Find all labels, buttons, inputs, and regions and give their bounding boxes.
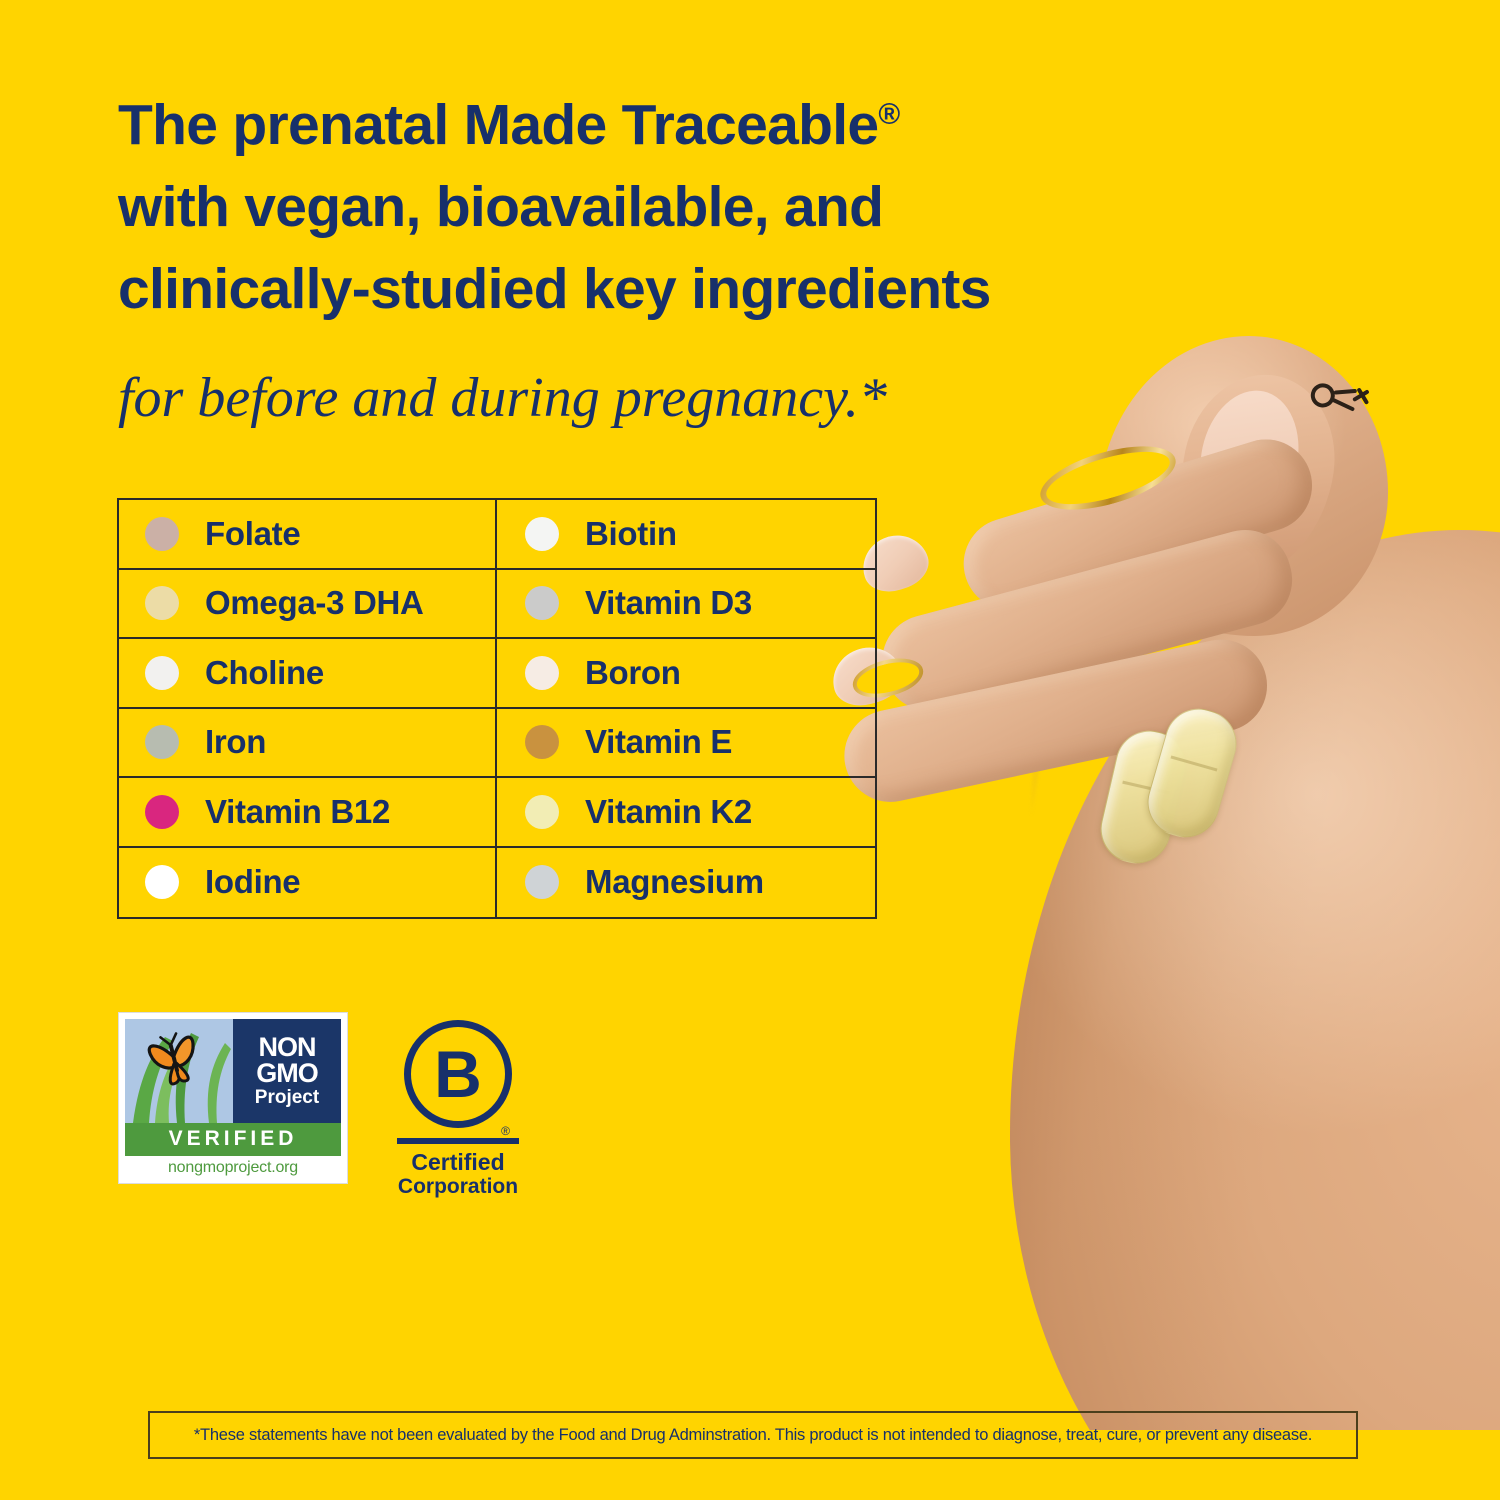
hand-tattoo-icon bbox=[1300, 370, 1383, 433]
non-gmo-url: nongmoproject.org bbox=[125, 1156, 341, 1177]
ingredient-color-dot bbox=[145, 656, 179, 690]
ingredient-label: Folate bbox=[205, 515, 300, 553]
ingredient-row: Boron bbox=[497, 639, 875, 709]
ingredient-label: Iron bbox=[205, 723, 266, 761]
ingredient-row: Choline bbox=[119, 639, 497, 709]
capsule-front-seam bbox=[1122, 781, 1169, 795]
ingredient-row: Magnesium bbox=[497, 848, 875, 918]
ingredient-color-dot bbox=[525, 656, 559, 690]
ingredient-label: Vitamin D3 bbox=[585, 584, 752, 622]
non-gmo-word-gmo: GMO bbox=[256, 1061, 318, 1087]
butterfly-icon bbox=[125, 1019, 233, 1123]
ingredient-label: Magnesium bbox=[585, 863, 764, 901]
ingredient-color-dot bbox=[525, 725, 559, 759]
ingredient-color-dot bbox=[525, 586, 559, 620]
ingredient-label: Vitamin E bbox=[585, 723, 732, 761]
product-marketing-image: The prenatal Made Traceable® with vegan,… bbox=[0, 0, 1500, 1500]
ingredient-color-dot bbox=[525, 865, 559, 899]
ingredient-label: Biotin bbox=[585, 515, 677, 553]
thumb-nail bbox=[1190, 381, 1311, 528]
ingredient-color-dot bbox=[145, 586, 179, 620]
b-corp-label-corporation: Corporation bbox=[388, 1175, 528, 1198]
thumb bbox=[1163, 361, 1351, 588]
navel bbox=[1048, 676, 1093, 754]
ingredient-row: Folate bbox=[119, 500, 497, 570]
page-title: The prenatal Made Traceable® with vegan,… bbox=[118, 84, 1198, 330]
ingredient-row: Vitamin D3 bbox=[497, 570, 875, 640]
headline-line-1-text: The prenatal Made Traceable bbox=[118, 93, 878, 157]
belly-shading bbox=[1010, 530, 1500, 1430]
subheadline: for before and during pregnancy.* bbox=[118, 366, 887, 430]
ingredient-color-dot bbox=[525, 795, 559, 829]
fda-disclaimer-box: *These statements have not been evaluate… bbox=[148, 1411, 1358, 1459]
headline-line-3: clinically-studied key ingredients bbox=[118, 248, 1198, 330]
ingredient-row: Biotin bbox=[497, 500, 875, 570]
ingredient-label: Iodine bbox=[205, 863, 300, 901]
ingredient-color-dot bbox=[145, 725, 179, 759]
capsule-back-seam bbox=[1171, 755, 1218, 771]
ingredient-row: Iron bbox=[119, 709, 497, 779]
registered-mark-icon: ® bbox=[878, 98, 899, 131]
knuckles bbox=[1098, 336, 1388, 636]
hand bbox=[830, 330, 1450, 950]
headline-line-1: The prenatal Made Traceable® bbox=[118, 84, 1198, 166]
capsule-front bbox=[1094, 724, 1192, 870]
headline-line-2: with vegan, bioavailable, and bbox=[118, 166, 1198, 248]
ingredient-row: Vitamin K2 bbox=[497, 778, 875, 848]
fda-disclaimer-text: *These statements have not been evaluate… bbox=[194, 1426, 1312, 1445]
b-corp-label-certified: Certified bbox=[388, 1150, 528, 1175]
ingredient-label: Omega-3 DHA bbox=[205, 584, 424, 622]
ingredient-label: Choline bbox=[205, 654, 324, 692]
butterfly-grass-artwork bbox=[125, 1019, 233, 1123]
non-gmo-badge-top: NON GMO Project bbox=[125, 1019, 341, 1123]
non-gmo-word-project: Project bbox=[255, 1089, 319, 1107]
b-corp-certified-badge: B ® Certified Corporation bbox=[388, 1020, 528, 1198]
b-corp-registered-mark-icon: ® bbox=[501, 1124, 510, 1138]
ingredient-row: Vitamin E bbox=[497, 709, 875, 779]
ingredient-label: Vitamin K2 bbox=[585, 793, 752, 831]
ingredient-table: Folate Biotin Omega-3 DHA Vitamin D3 Cho… bbox=[117, 498, 877, 919]
ring-finger bbox=[952, 428, 1323, 621]
pregnant-belly bbox=[1010, 530, 1500, 1430]
ingredient-label: Boron bbox=[585, 654, 681, 692]
ingredient-color-dot bbox=[145, 517, 179, 551]
gold-ring bbox=[1034, 434, 1183, 523]
capsule-back bbox=[1139, 701, 1244, 846]
b-corp-letter: B bbox=[404, 1020, 512, 1128]
ingredient-row: Iodine bbox=[119, 848, 497, 918]
index-finger bbox=[836, 631, 1276, 810]
ingredient-color-dot bbox=[145, 795, 179, 829]
lifestyle-photo bbox=[830, 330, 1500, 1430]
ingredient-label: Vitamin B12 bbox=[205, 793, 390, 831]
non-gmo-project-verified-badge: NON GMO Project VERIFIED nongmoproject.o… bbox=[118, 1012, 348, 1184]
ingredient-row: Vitamin B12 bbox=[119, 778, 497, 848]
middle-finger bbox=[872, 520, 1303, 721]
non-gmo-verified-band: VERIFIED bbox=[125, 1123, 341, 1156]
non-gmo-word-non: NON bbox=[259, 1035, 316, 1061]
non-gmo-wordmark: NON GMO Project bbox=[233, 1019, 341, 1123]
b-corp-divider bbox=[397, 1138, 519, 1144]
belly-contour-line bbox=[1027, 490, 1069, 819]
ingredient-color-dot bbox=[145, 865, 179, 899]
ingredient-row: Omega-3 DHA bbox=[119, 570, 497, 640]
ingredient-color-dot bbox=[525, 517, 559, 551]
